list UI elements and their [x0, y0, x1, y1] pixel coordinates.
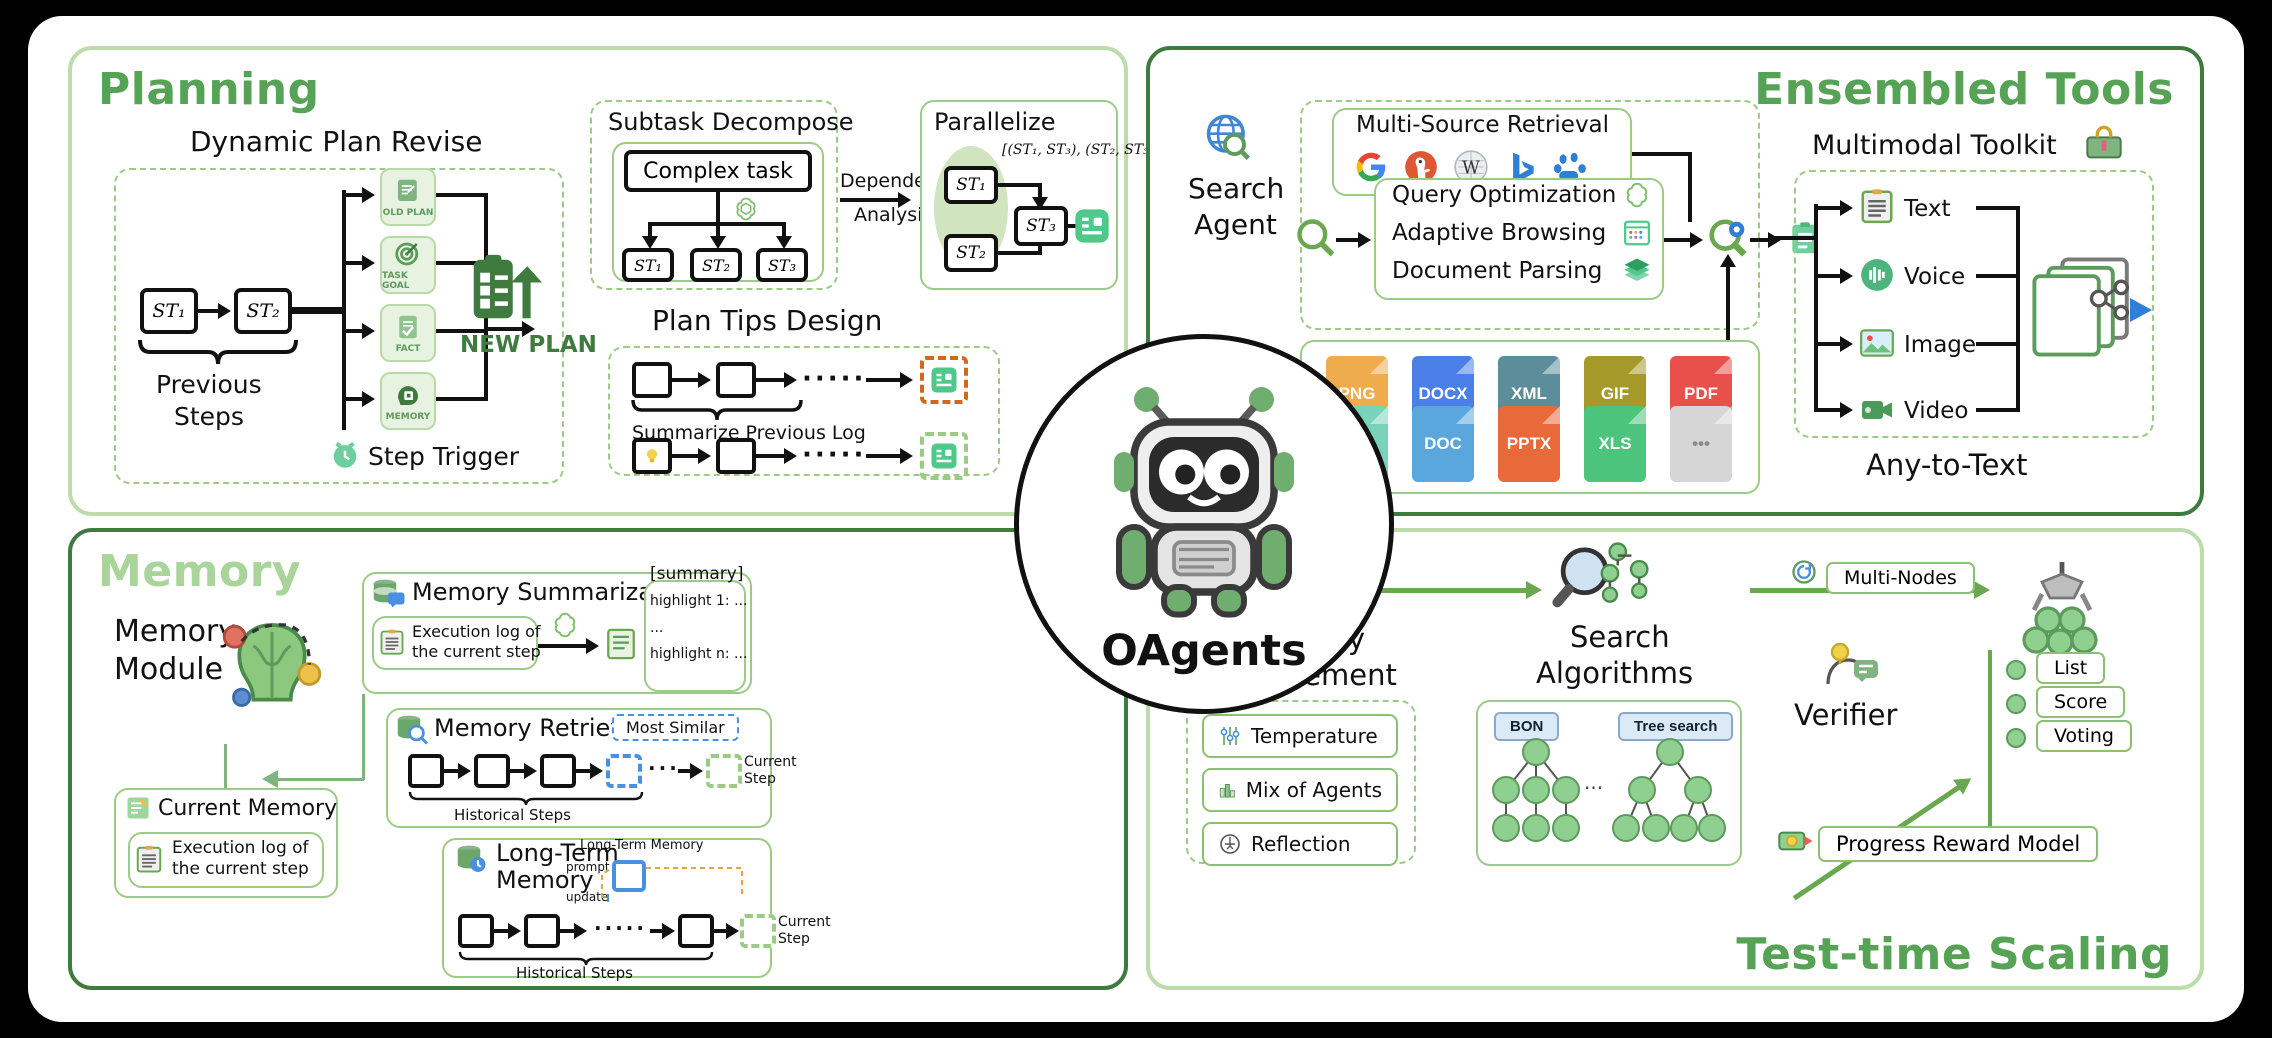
current-memory-body-line-1: Execution log of [172, 838, 309, 859]
modality-label-text: Text [1904, 196, 1951, 222]
reflection-circle-icon [1218, 832, 1242, 856]
arrow-icon [586, 638, 599, 654]
summary-lines: highlight 1: ... ... highlight n: ... [650, 588, 747, 668]
arrow-icon [1690, 232, 1703, 248]
long-term-step-node [524, 914, 560, 948]
search-icon [1294, 216, 1338, 260]
clipboard-log-icon [378, 626, 406, 658]
modality-label-voice: Voice [1904, 264, 1965, 290]
connector [2016, 206, 2020, 410]
retrieval-current-step-label: Current Step [744, 754, 797, 788]
connector [998, 183, 1042, 187]
brain-chip-icon [393, 380, 423, 410]
summarize-brace [628, 398, 806, 424]
long-term-historical-label: Historical Steps [516, 964, 633, 982]
note-icon [124, 794, 152, 822]
browser-window-icon [1622, 218, 1652, 248]
alarm-clock-icon [328, 438, 362, 472]
arrow-icon [698, 372, 711, 388]
connector [1632, 152, 1692, 156]
arrow-icon [1358, 232, 1371, 248]
summary-line-1: highlight 1: ... [650, 588, 747, 615]
search-agent-label-2: Agent [1194, 208, 1277, 241]
arrow-icon [1840, 336, 1853, 352]
bon-tree [1486, 738, 1596, 860]
connector [1814, 342, 1842, 346]
long-term-step-node [678, 914, 714, 948]
subtask-node-st2: ST₂ [690, 248, 742, 282]
input-tile-memory: MEMORY [380, 372, 436, 430]
long-term-dots: ····· [594, 916, 647, 940]
summary-doc-icon [604, 624, 638, 664]
target-icon [393, 239, 423, 269]
oagents-mascot: OAgents [1014, 334, 1394, 714]
capability-label-browsing: Adaptive Browsing [1392, 220, 1606, 246]
previous-steps-label-2: Steps [174, 402, 244, 431]
retrieval-historical-label: Historical Steps [454, 806, 571, 824]
arrow-icon [590, 763, 603, 779]
connector [362, 694, 365, 780]
arrow-icon [690, 763, 703, 779]
complex-task-node: Complex task [624, 150, 812, 192]
plan-tip-node [716, 362, 756, 398]
tree-label-bon: BON [1494, 712, 1559, 741]
connector [672, 378, 700, 382]
clipboard-up-arrow-icon [464, 250, 542, 328]
verifier-output-voting: Voting [2036, 720, 2132, 752]
arrow-icon [784, 448, 797, 464]
merge-node-st3: ST₃ [1014, 206, 1068, 246]
output-dot [2006, 694, 2026, 714]
connector [224, 744, 227, 788]
report-doc-icon [1072, 206, 1112, 246]
picture-icon [1856, 324, 1898, 362]
retrieval-step-node-similar [606, 754, 642, 788]
connector [1976, 342, 2020, 346]
diversity-option-label: Reflection [1251, 832, 1351, 856]
diversity-option-mix-of-agents[interactable]: Mix of Agents [1202, 768, 1398, 812]
plan-tip-node [632, 362, 672, 398]
connector [840, 198, 902, 202]
openai-logo-icon [550, 610, 580, 640]
openai-logo-icon [1622, 180, 1652, 210]
magnifier-tree-icon [1550, 542, 1666, 620]
plan-tip-node [716, 438, 756, 474]
file-tile-more: ••• [1670, 406, 1732, 482]
diversity-option-temperature[interactable]: Temperature [1202, 714, 1398, 758]
connector [866, 378, 902, 382]
summarization-input-line-2: the current step [412, 642, 541, 662]
database-search-icon [394, 712, 430, 748]
arrow-icon [726, 923, 739, 939]
audio-wave-icon [1858, 256, 1896, 294]
retrieval-step-node [540, 754, 576, 788]
connector [342, 397, 364, 401]
most-similar-label: Most Similar [612, 714, 739, 741]
search-agent-label-1: Search [1188, 172, 1284, 205]
refresh-icon [1790, 558, 1818, 586]
plan-tips-title: Plan Tips Design [652, 304, 882, 337]
connector [342, 261, 364, 265]
tile-caption: FACT [396, 344, 421, 354]
globe-search-icon [1202, 112, 1254, 164]
verifier-output-score: Score [2036, 686, 2125, 718]
multi-nodes-label: Multi-Nodes [1826, 562, 1975, 594]
progress-reward-model-label: Progress Reward Model [1818, 826, 2098, 862]
modality-label-video: Video [1904, 398, 1968, 424]
input-tile-old-plan: OLD PLAN [380, 168, 436, 226]
summarization-input-body: Execution log of the current step [412, 622, 541, 662]
clipboard-text-icon [1858, 186, 1896, 226]
tile-caption: MEMORY [386, 412, 431, 422]
arrow-icon [524, 763, 537, 779]
connector [1772, 236, 1816, 240]
modality-label-image: Image [1904, 332, 1976, 358]
checked-document-icon [393, 312, 423, 342]
arrow-icon [1768, 232, 1781, 248]
memory-title: Memory [98, 546, 301, 597]
arrow-icon [362, 255, 375, 271]
connector [1814, 274, 1842, 278]
scroll-plan-icon [393, 176, 423, 206]
output-arrow-icon [2130, 298, 2152, 322]
connector [756, 378, 786, 382]
diversity-option-reflection[interactable]: Reflection [1202, 822, 1398, 866]
retrieval-step-node [474, 754, 510, 788]
connector [716, 192, 720, 224]
arrow-icon [508, 923, 521, 939]
connector [998, 251, 1042, 255]
connector [292, 307, 346, 314]
connector [1336, 238, 1360, 242]
arrow-icon [900, 372, 913, 388]
search-algorithms-label-1: Search [1570, 620, 1670, 654]
any-to-text-label: Any-to-Text [1866, 448, 2027, 482]
tile-caption: TASK GOAL [382, 271, 434, 291]
arrow-icon [458, 763, 471, 779]
database-clock-icon [454, 842, 490, 878]
diversity-option-label: Temperature [1251, 724, 1378, 748]
current-memory-title: Current Memory [158, 796, 337, 821]
connector [1726, 262, 1730, 340]
arrow-icon [362, 187, 375, 203]
arrow-icon [1840, 402, 1853, 418]
subtask-node-st1: ST₁ [622, 248, 674, 282]
file-tile-doc: DOC [1412, 406, 1474, 482]
diagram-canvas: Planning Dynamic Plan Revise ST₁ ST₂ Pre… [28, 16, 2244, 1022]
long-term-box-label: Long-Term Memory [580, 838, 703, 853]
idea-head-icon [1822, 640, 1882, 696]
file-tile-xls: XLS [1584, 406, 1646, 482]
arrow-icon [218, 303, 231, 319]
step-trigger-label: Step Trigger [368, 442, 519, 471]
connector [1976, 274, 2020, 278]
clipboard-log-icon [134, 842, 164, 876]
retrieval-current-step-node [706, 754, 742, 788]
arrow-icon [574, 923, 587, 939]
connector [1688, 152, 1692, 222]
connector [1976, 206, 2020, 210]
plan-tip-dots: ····· [802, 364, 866, 394]
document-stack-icon [2026, 252, 2138, 362]
parallelize-notation: [(ST₁, ST₃), (ST₂, ST₃)] [1002, 142, 1160, 158]
connector [1976, 408, 2020, 412]
verifier-output-list: List [2036, 652, 2105, 684]
connector [1988, 650, 1992, 840]
long-term-current-step-node [740, 914, 776, 948]
connector [198, 309, 220, 313]
connector [756, 454, 786, 458]
capability-label-parsing: Document Parsing [1392, 258, 1602, 284]
previous-steps-label-1: Previous [156, 370, 262, 399]
lightbulb-icon [641, 445, 663, 467]
video-camera-icon [1856, 392, 1898, 428]
input-tile-task-goal: TASK GOAL [380, 236, 436, 294]
current-memory-body-line-2: the current step [172, 859, 309, 880]
arrow-icon [262, 770, 278, 788]
database-chat-icon [370, 576, 406, 612]
panel-planning: Planning Dynamic Plan Revise ST₁ ST₂ Pre… [68, 46, 1128, 516]
output-dot [2006, 660, 2026, 680]
arrow-icon [362, 391, 375, 407]
connector [672, 454, 700, 458]
multi-source-retrieval-title: Multi-Source Retrieval [1356, 112, 1609, 138]
output-dot [2006, 728, 2026, 748]
verifier-label: Verifier [1794, 698, 1897, 732]
parallel-node-st2: ST₂ [944, 234, 998, 272]
test-time-scaling-title: Test-time Scaling [1736, 929, 2172, 980]
svg-text:W: W [1462, 158, 1480, 178]
bar-chart-icon [1218, 778, 1237, 802]
search-algorithms-label-2: Algorithms [1536, 656, 1693, 690]
connector [342, 329, 364, 333]
connector [866, 454, 902, 458]
diversity-option-label: Mix of Agents [1246, 778, 1382, 802]
summary-header: [summary] [650, 564, 743, 584]
long-term-current-step-label-1: Current [778, 914, 831, 931]
summarization-input-line-1: Execution log of [412, 622, 541, 642]
connector [342, 190, 346, 430]
parallel-node-st1: ST₁ [944, 166, 998, 204]
connector [1814, 206, 1842, 210]
retrieval-dots: ··· [648, 756, 680, 780]
stacked-docs-icon [1622, 256, 1652, 286]
arrow-icon [1840, 200, 1853, 216]
tree-search-tree [1612, 738, 1732, 860]
diversity-to-search-arrow [1362, 588, 1528, 593]
tile-caption: OLD PLAN [383, 208, 434, 218]
arrow-icon [362, 323, 375, 339]
plan-tip-dots-2: ····· [802, 440, 866, 470]
file-tile-pptx: PPTX [1498, 406, 1560, 482]
connector [1814, 408, 1842, 412]
brain-network-icon [202, 604, 342, 744]
arrow-icon [1720, 254, 1736, 267]
claw-machine-icon [2016, 558, 2108, 654]
new-plan-label: NEW PLAN [460, 332, 597, 358]
long-term-current-step-label-2: Step [778, 931, 831, 948]
openai-logo-icon [732, 195, 760, 223]
current-memory-body: Execution log of the current step [172, 838, 309, 881]
connector [538, 644, 588, 648]
toolbox-icon [2084, 124, 2124, 164]
planning-title: Planning [98, 64, 320, 115]
retrieval-step-node [408, 754, 444, 788]
oagents-label: OAgents [1101, 626, 1306, 676]
summary-line-2: ... [650, 615, 747, 642]
connector [436, 193, 488, 197]
parallelize-title: Parallelize [934, 108, 1055, 136]
highlighted-doc-green-icon [920, 432, 968, 480]
panel-memory: Memory Memory Module Current Memory Exec… [68, 528, 1128, 990]
subtask-node-st3: ST₃ [756, 248, 808, 282]
retrieval-current-step-label-2: Step [744, 771, 797, 788]
arrow-icon [900, 448, 913, 464]
arrow-icon [662, 923, 675, 939]
connector [1750, 238, 1770, 242]
robot-mascot-icon [1079, 372, 1329, 622]
arrow-icon [698, 448, 711, 464]
tree-label-tree-search: Tree search [1618, 712, 1733, 741]
arrow-icon [784, 372, 797, 388]
dynamic-plan-revise-title: Dynamic Plan Revise [190, 125, 482, 158]
summary-line-3: highlight n: ... [650, 641, 747, 668]
connector [274, 778, 364, 781]
ensembled-tools-title: Ensembled Tools [1754, 64, 2174, 115]
arrow-icon [1840, 268, 1853, 284]
step-node-st2: ST₂ [234, 288, 292, 334]
capability-label-query: Query Optimization [1392, 182, 1616, 208]
step-node-st1: ST₁ [140, 288, 198, 334]
retrieval-current-step-label-1: Current [744, 754, 797, 771]
highlighted-doc-orange-icon [920, 356, 968, 404]
multimodal-toolkit-title: Multimodal Toolkit [1812, 130, 2057, 161]
plan-tip-node-idea [632, 438, 672, 474]
long-term-current-step-label: Current Step [778, 914, 831, 948]
long-term-links [542, 854, 758, 916]
connector [436, 397, 488, 401]
previous-steps-brace [134, 338, 302, 368]
subtask-decompose-title: Subtask Decompose [608, 108, 854, 136]
long-term-step-node [458, 914, 494, 948]
money-icon [1776, 824, 1816, 858]
connector [342, 193, 364, 197]
sliders-icon [1218, 724, 1242, 748]
input-tile-fact: FACT [380, 304, 436, 362]
